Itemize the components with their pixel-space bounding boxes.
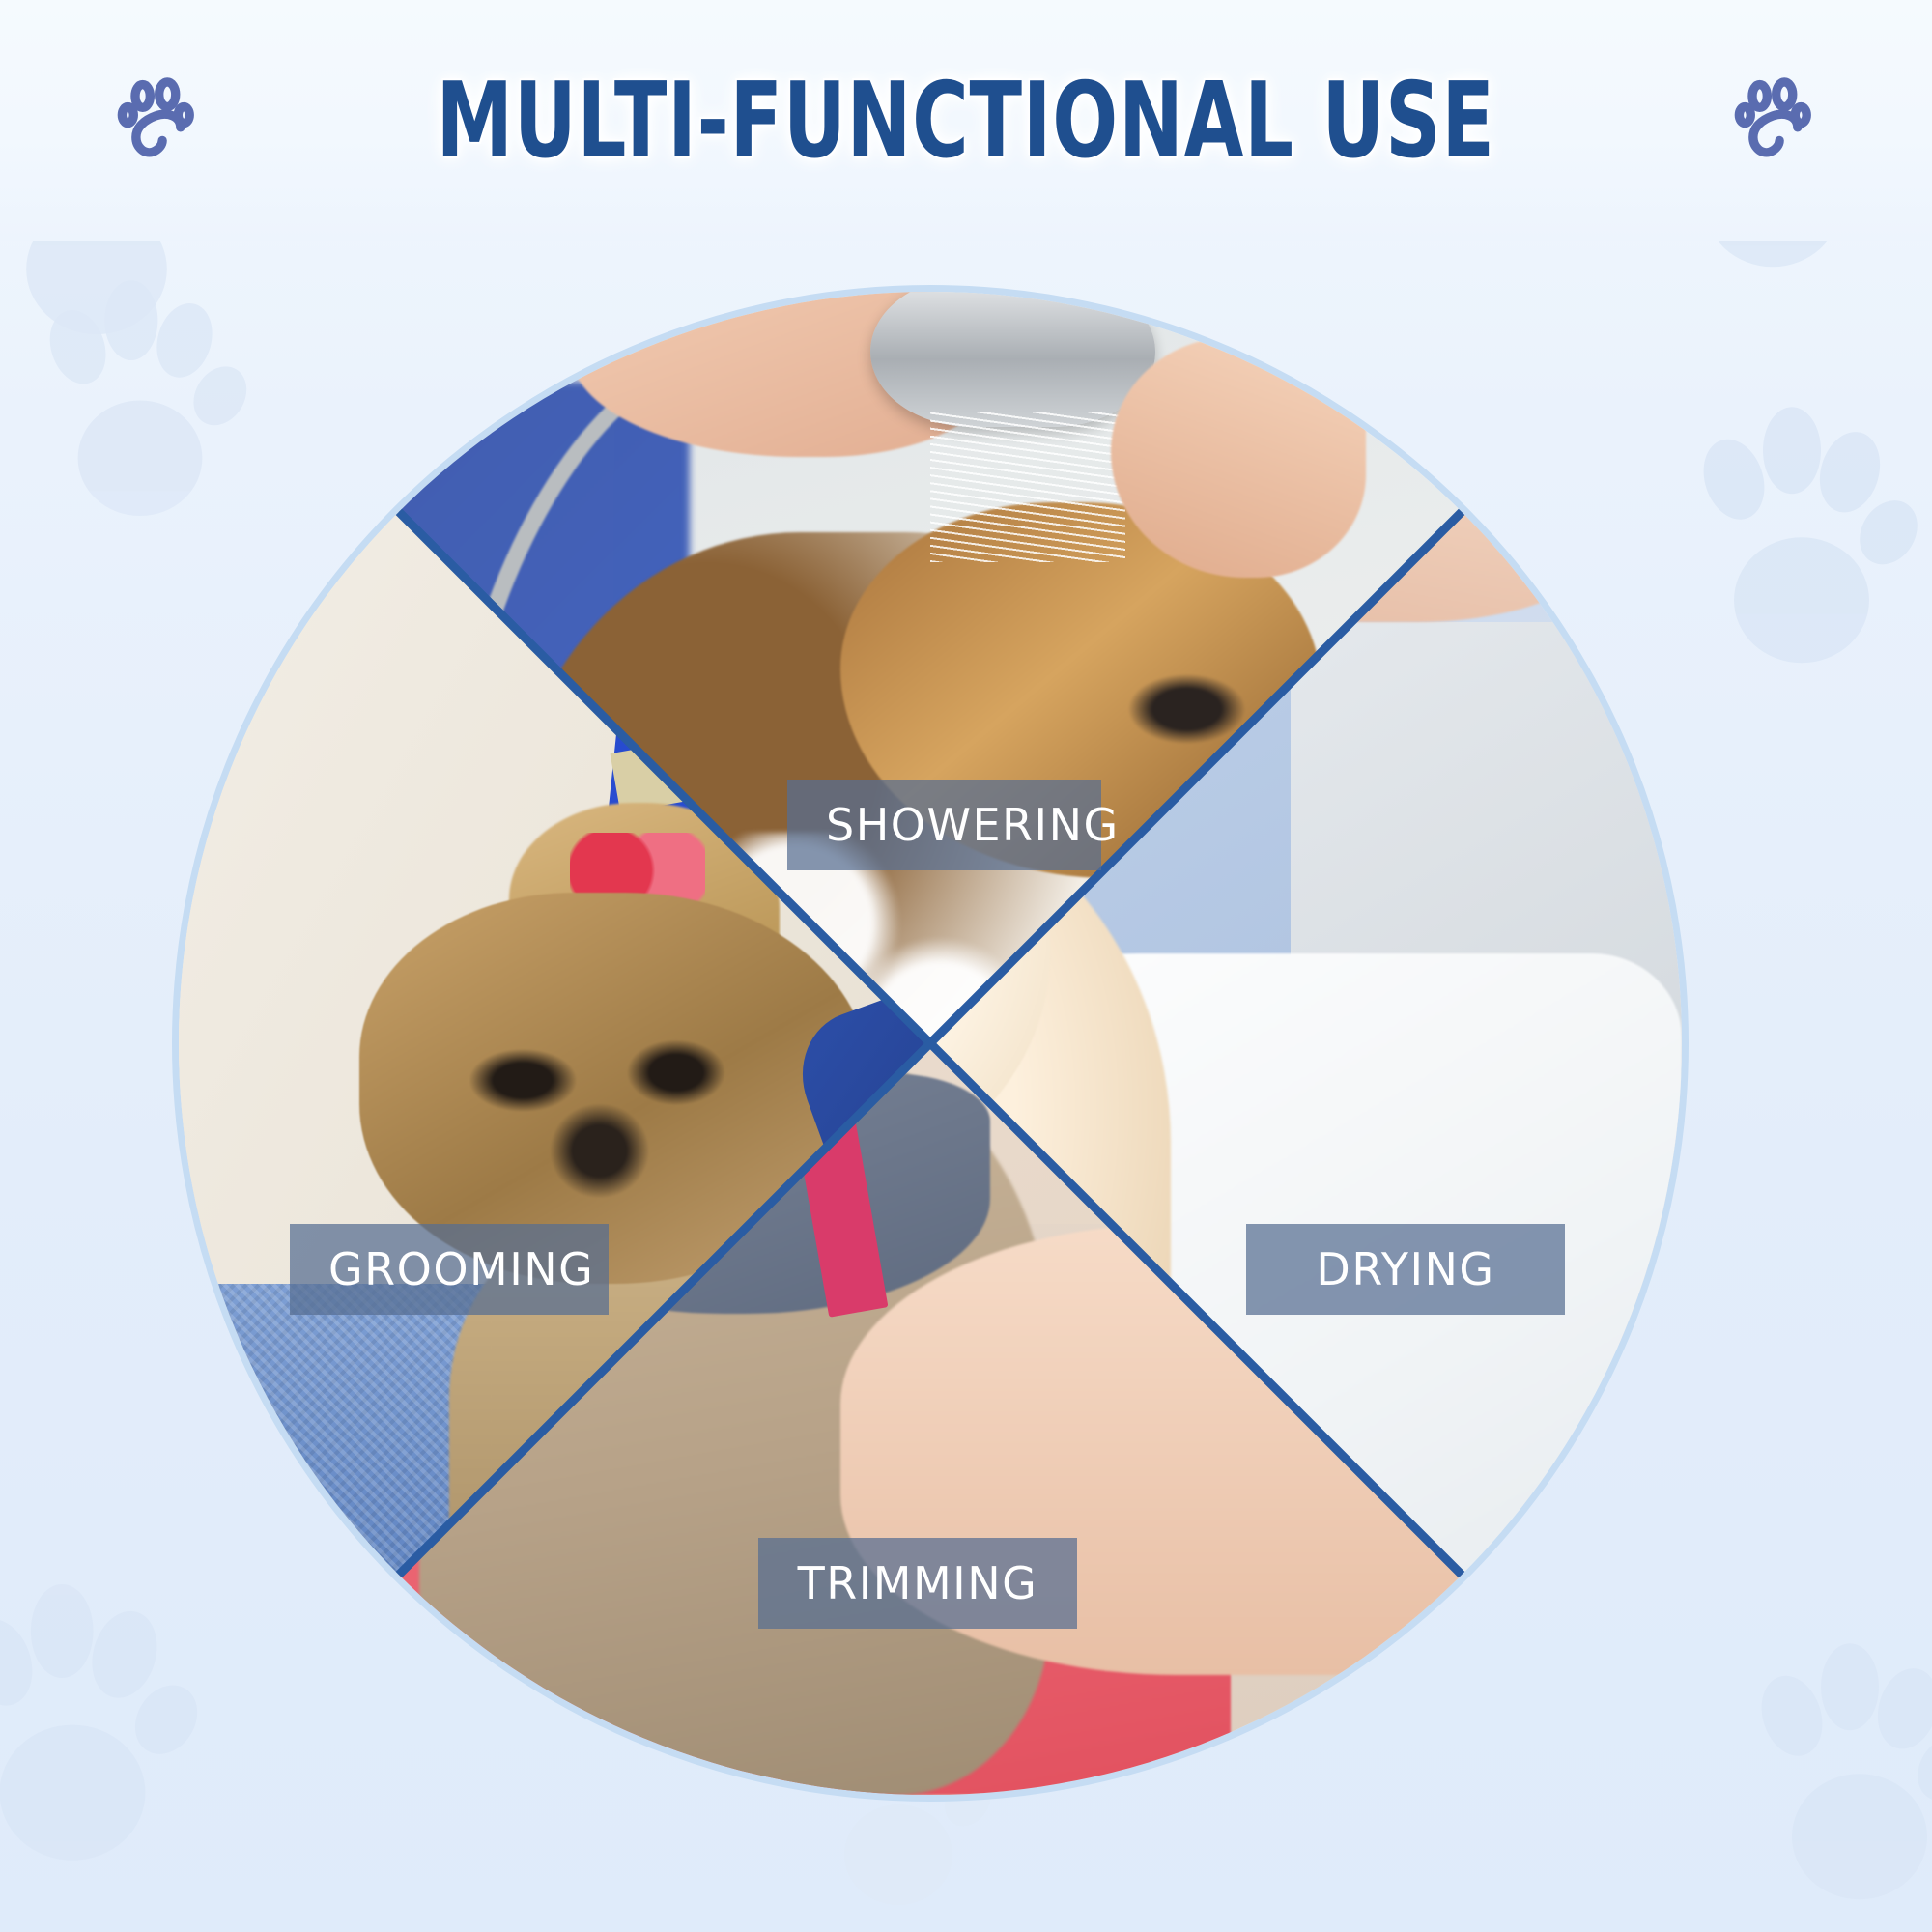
label-grooming: GROOMING bbox=[290, 1224, 609, 1315]
label-drying: DRYING bbox=[1246, 1224, 1565, 1315]
header-inner: MULTI-FUNCTIONAL USE bbox=[115, 61, 1816, 182]
paw-print-icon bbox=[115, 76, 200, 165]
shower-head bbox=[870, 292, 1156, 427]
page-background: MULTI-FUNCTIONAL USE bbox=[0, 0, 1932, 1932]
page-title: MULTI-FUNCTIONAL USE bbox=[437, 61, 1495, 182]
water-spray bbox=[930, 412, 1125, 562]
label-trimming: TRIMMING bbox=[758, 1538, 1077, 1629]
paw-print-icon bbox=[1732, 76, 1817, 165]
label-showering: SHOWERING bbox=[787, 780, 1101, 870]
collage-circle: SHOWERING GROOMING DRYING TRIMMING bbox=[172, 285, 1689, 1802]
header-banner: MULTI-FUNCTIONAL USE bbox=[0, 0, 1932, 241]
paw-print-icon bbox=[1681, 406, 1922, 686]
multi-function-collage: SHOWERING GROOMING DRYING TRIMMING bbox=[172, 285, 1689, 1802]
paw-print-icon bbox=[1739, 1642, 1932, 1922]
